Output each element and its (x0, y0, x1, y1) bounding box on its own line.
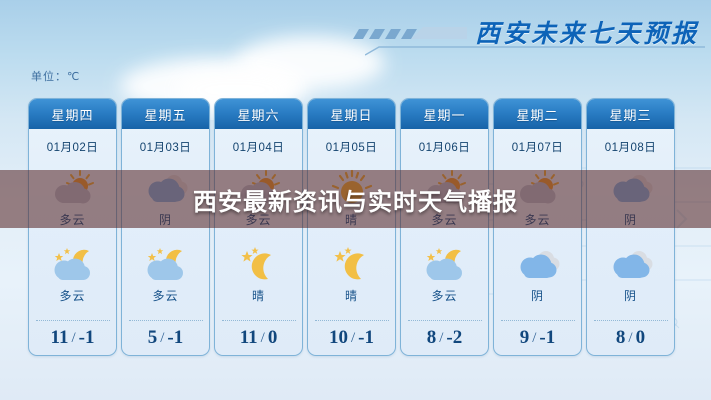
forecast-night-condition: 阴 (624, 287, 637, 304)
page-title: 西安未来七天预报 (475, 14, 699, 50)
forecast-weekday: 星期日 (308, 99, 395, 129)
forecast-date: 01月04日 (215, 129, 302, 165)
temperature-range: 8/0 (616, 321, 645, 355)
temperature-range: 9/-1 (520, 321, 556, 355)
forecast-night-condition: 阴 (531, 287, 544, 304)
forecast-night-slot: 多云 (29, 239, 116, 315)
moon-behind-cloud-icon (419, 243, 471, 285)
news-overlay-text: 西安最新资讯与实时天气播报 (193, 182, 518, 217)
forecast-date: 01月07日 (494, 129, 581, 165)
temperature-low: -1 (539, 327, 555, 349)
temperature-range: 10/-1 (329, 321, 374, 355)
temperature-separator: / (439, 330, 443, 347)
news-overlay-banner: 西安最新资讯与实时天气播报 (0, 170, 711, 228)
forecast-night-slot: 阴 (587, 239, 674, 315)
temperature-high: 9 (520, 327, 530, 349)
temperature-separator: / (532, 330, 536, 347)
speed-lines-decor (349, 19, 469, 45)
temperature-low: -1 (358, 327, 374, 349)
forecast-night-condition: 晴 (252, 287, 265, 304)
temperature-separator: / (160, 330, 164, 347)
temperature-separator: / (628, 330, 632, 347)
forecast-night-slot: 晴 (215, 239, 302, 315)
forecast-weekday: 星期五 (122, 99, 209, 129)
temperature-high: 8 (427, 327, 437, 349)
forecast-night-slot: 多云 (122, 239, 209, 315)
forecast-night-slot: 晴 (308, 239, 395, 315)
temperature-range: 8/-2 (427, 321, 463, 355)
forecast-night-condition: 多云 (59, 287, 85, 304)
unit-label: 单位：℃ (31, 68, 80, 84)
forecast-weekday: 星期六 (215, 99, 302, 129)
temperature-separator: / (261, 330, 265, 347)
overcast-cloud-icon (512, 243, 564, 285)
moon-clear-icon (233, 243, 285, 285)
moon-clear-icon (326, 243, 378, 285)
forecast-date: 01月02日 (29, 129, 116, 165)
temperature-range: 11/-1 (51, 321, 95, 355)
title-underline (365, 46, 705, 56)
temperature-separator: / (351, 330, 355, 347)
temperature-high: 10 (329, 327, 348, 349)
temperature-low: -1 (79, 327, 95, 349)
temperature-high: 8 (616, 327, 626, 349)
temperature-high: 11 (51, 327, 69, 349)
forecast-night-condition: 多云 (431, 287, 457, 304)
forecast-weekday: 星期四 (29, 99, 116, 129)
temperature-low: -1 (167, 327, 183, 349)
temperature-low: 0 (636, 327, 646, 349)
forecast-weekday: 星期三 (587, 99, 674, 129)
page-title-group: 西安未来七天预报 (349, 14, 699, 50)
forecast-weekday: 星期二 (494, 99, 581, 129)
forecast-night-slot: 阴 (494, 239, 581, 315)
moon-behind-cloud-icon (140, 243, 192, 285)
temperature-range: 11/0 (240, 321, 278, 355)
temperature-range: 5/-1 (148, 321, 184, 355)
temperature-high: 11 (240, 327, 258, 349)
forecast-date: 01月08日 (587, 129, 674, 165)
forecast-date: 01月06日 (401, 129, 488, 165)
overcast-cloud-icon (605, 243, 657, 285)
temperature-low: -2 (446, 327, 462, 349)
forecast-night-condition: 多云 (152, 287, 178, 304)
forecast-weekday: 星期一 (401, 99, 488, 129)
forecast-date: 01月05日 (308, 129, 395, 165)
temperature-high: 5 (148, 327, 158, 349)
forecast-date: 01月03日 (122, 129, 209, 165)
moon-behind-cloud-icon (47, 243, 99, 285)
temperature-separator: / (71, 330, 75, 347)
forecast-night-condition: 晴 (345, 287, 358, 304)
temperature-low: 0 (268, 327, 278, 349)
forecast-night-slot: 多云 (401, 239, 488, 315)
weather-forecast-page: 西安未来七天预报 单位：℃ 星期四01月02日 多云 (0, 0, 711, 400)
